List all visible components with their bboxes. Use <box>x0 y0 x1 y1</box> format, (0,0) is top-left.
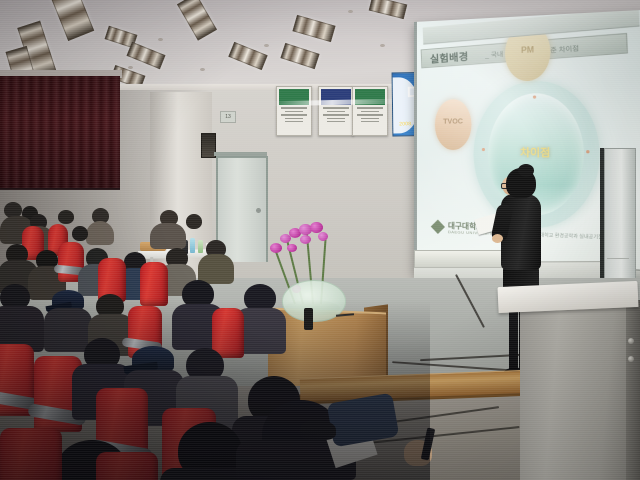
audience-head <box>186 214 202 229</box>
slide-center-label: 차이점 <box>501 144 571 160</box>
slide-bubble-left-label: TVOC <box>435 118 472 126</box>
audience-body <box>44 308 92 352</box>
ceiling-speaker-dot <box>264 44 269 47</box>
auditorium-seat[interactable] <box>96 452 158 480</box>
auditorium-seat[interactable] <box>0 428 62 480</box>
audience-body <box>150 223 186 249</box>
diamond-logo-icon <box>431 220 445 234</box>
flipchart-writing <box>607 258 629 259</box>
slide-title: 실험배경 <box>430 48 469 66</box>
audience-body <box>86 221 114 245</box>
ceiling-speaker-dot <box>200 68 205 71</box>
audience-head <box>72 226 88 241</box>
room-number-sign: 13 <box>220 111 236 123</box>
recessed-fluorescent-light <box>177 0 217 41</box>
slide-marker-dot <box>586 150 589 153</box>
audience-shoe <box>300 420 336 440</box>
recessed-fluorescent-light <box>46 0 94 41</box>
whiteboard-flipchart <box>604 148 636 282</box>
recessed-fluorescent-light <box>127 42 166 69</box>
wall-poster <box>318 86 354 136</box>
ceiling-speaker-dot <box>128 66 133 69</box>
wall-poster <box>276 86 312 136</box>
audience-head <box>58 210 74 224</box>
auditorium-seat[interactable] <box>212 308 244 358</box>
ceiling-speaker-dot <box>348 10 353 13</box>
lectern[interactable] <box>520 300 640 480</box>
slide-bubble-top-label: PM <box>505 44 550 55</box>
wall-poster <box>352 86 388 136</box>
ceiling-speaker-dot <box>158 38 163 41</box>
presenter-hand <box>492 234 503 243</box>
presenter-hair-bun <box>518 164 534 177</box>
recessed-fluorescent-light <box>228 42 267 70</box>
lectern-control-knob[interactable] <box>628 356 634 362</box>
auditorium-seat[interactable] <box>140 262 168 306</box>
lectern-control-knob[interactable] <box>628 338 634 344</box>
ceiling-speaker-dot <box>380 44 385 47</box>
lectern-side-panel <box>626 300 640 480</box>
audience-body <box>198 254 234 284</box>
lecture-hall-photo: 13 대구 대 2008. 11. 실험배경 _ 국내 · 외 실내환경기준 차… <box>0 0 640 480</box>
slide-marker-dot <box>482 148 485 151</box>
recessed-fluorescent-light <box>292 15 335 42</box>
slide-marker-dot <box>533 95 536 98</box>
stage-curtain <box>0 76 120 190</box>
recessed-fluorescent-light <box>369 0 408 19</box>
recessed-fluorescent-light <box>280 43 319 69</box>
